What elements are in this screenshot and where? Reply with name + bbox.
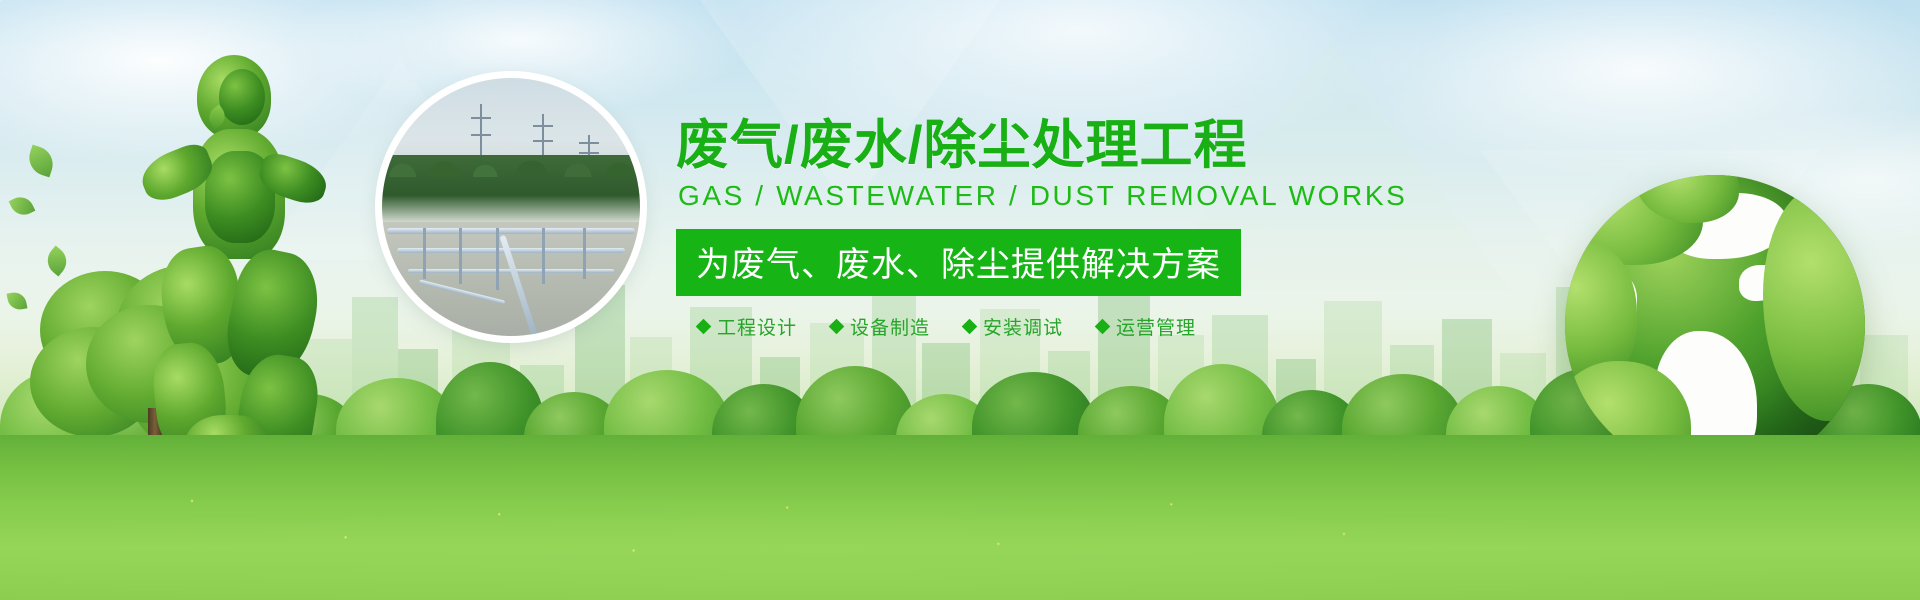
service-bullet-label: 设备制造 — [850, 313, 930, 340]
service-bullet-item: 运营管理 — [1097, 313, 1196, 340]
photo-post-3 — [496, 228, 499, 290]
service-bullet-item: 安装调试 — [964, 313, 1063, 340]
page-title: 废气/废水/除尘处理工程 — [676, 118, 1416, 174]
diamond-icon — [1095, 319, 1111, 335]
service-bullet-item: 设备制造 — [831, 313, 930, 340]
page-subtitle: GAS / WASTEWATER / DUST REMOVAL WORKS — [678, 180, 1416, 212]
photo-post-1 — [423, 228, 426, 280]
service-bullet-label: 安装调试 — [983, 313, 1063, 340]
service-bullet-list: 工程设计 设备制造 安装调试 运营管理 — [698, 313, 1416, 340]
diamond-icon — [696, 319, 712, 335]
tagline-bar: 为废气、废水、除尘提供解决方案 — [676, 229, 1241, 296]
photo-post-4 — [542, 228, 545, 285]
banner-text-block: 废气/废水/除尘处理工程 GAS / WASTEWATER / DUST REM… — [676, 118, 1416, 340]
service-bullet-label: 运营管理 — [1116, 313, 1196, 340]
photo-tree-row — [382, 155, 640, 227]
service-bullet-item: 工程设计 — [698, 313, 797, 340]
diamond-icon — [829, 319, 845, 335]
service-bullet-label: 工程设计 — [717, 313, 797, 340]
photo-post-5 — [583, 228, 586, 280]
environmental-engineering-banner: 废气/废水/除尘处理工程 GAS / WASTEWATER / DUST REM… — [0, 0, 1920, 600]
treatment-plant-photo — [382, 78, 640, 336]
photo-post-2 — [459, 228, 462, 285]
diamond-icon — [962, 319, 978, 335]
grass-field — [0, 435, 1920, 600]
